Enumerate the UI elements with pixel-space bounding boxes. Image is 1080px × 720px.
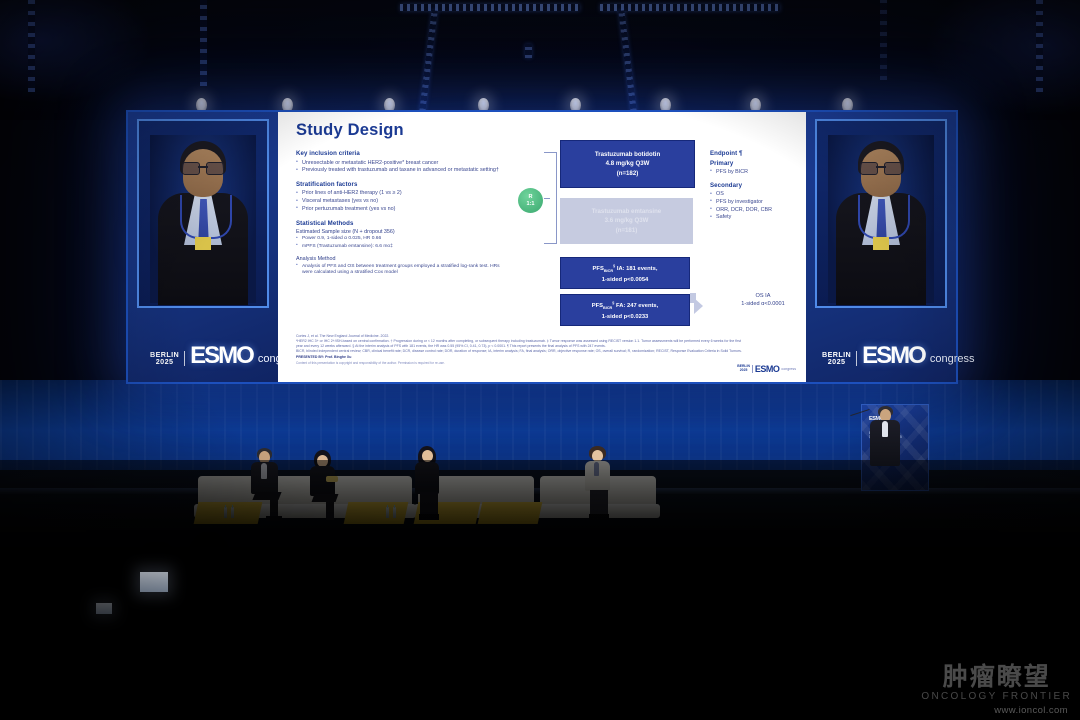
secondary-endpoint-list: OS PFS by investigator ORR, DCR, DOR, CB… [710, 191, 806, 221]
list-item: Visceral metastases (yes vs no) [296, 198, 500, 205]
arm-n: (n=181) [616, 226, 638, 235]
arm-drug-name: Trastuzumab emtansine [592, 207, 661, 216]
treatment-arm-comparator: Trastuzumab emtansine 3.6 mg/kg Q3W (n=1… [560, 198, 693, 244]
presentation-slide: Study Design Key inclusion criteria Unre… [278, 112, 806, 382]
inclusion-list: Unresectable or metastatic HER2-positive… [296, 160, 500, 174]
esmo-logo-slide-corner: BERLIN 2025 ESMO congress [737, 364, 796, 374]
list-item: Safety [710, 214, 806, 221]
watermark-english: ONCOLOGY FRONTIER [921, 691, 1072, 702]
pfs-ia-line1: PFSBICR§ IA: 181 events, [593, 262, 658, 275]
audience-silhouette [452, 600, 548, 720]
endpoint-heading: Endpoint ¶ [710, 150, 806, 157]
presenter-at-podium [866, 406, 906, 492]
arm-n: (n=182) [617, 169, 639, 178]
esmo-wordmark: ESMO [190, 345, 253, 366]
os-interim-analysis-note: OS IA 1-sided α<0.0001 [708, 292, 806, 308]
pfs-interim-analysis-box: PFSBICR§ IA: 181 events, 1-sided p<0.005… [560, 257, 690, 289]
eyeglasses-icon [182, 162, 224, 173]
side-truss [28, 0, 35, 92]
statistics-list-2: Analysis of PFS and OS between treatment… [296, 264, 500, 276]
statistics-list-1: Power 0.9, 1-sided α 0.025, HR 0.66 mPFS… [296, 236, 500, 249]
truss-fixture [525, 44, 532, 58]
list-item: Previously treated with trastuzumab and … [296, 167, 500, 174]
pfs-final-analysis-box: PFSBICR§ FA: 247 events, 1-sided p<0.023… [560, 294, 690, 326]
watermark-chinese: 肿瘤瞭望 [921, 663, 1072, 690]
os-ia-line1: OS IA [708, 292, 806, 300]
footnote: Cortes J, et al. The New England Journal… [296, 334, 744, 338]
lanyard [858, 195, 910, 239]
watermark-logo: 肿瘤瞭望 ONCOLOGY FRONTIER [921, 663, 1072, 702]
speaker-video-feed-right: BERLIN 2025 ESMO congress [806, 112, 956, 382]
side-truss [1036, 0, 1043, 92]
video-frame [137, 119, 269, 308]
audience-laptop-screen [140, 572, 168, 592]
list-item: Unresectable or metastatic HER2-positive… [296, 160, 500, 167]
arm-dose: 3.6 mg/kg Q3W [605, 216, 649, 225]
primary-heading: Primary [710, 160, 806, 167]
list-item: Power 0.9, 1-sided α 0.025, HR 0.66 [296, 236, 500, 242]
badge [195, 237, 211, 250]
conference-photo: BERLIN 2025 ESMO congress Study Design K… [0, 0, 1080, 720]
list-item: Prior pertuzumab treatment (yes vs no) [296, 206, 500, 213]
analysis-method-line: Analysis Method [296, 256, 500, 262]
primary-endpoint-list: PFS by BICR [710, 169, 806, 176]
esmo-year: 2025 [156, 357, 174, 366]
statistics-heading: Statistical Methods [296, 220, 500, 227]
list-item: Analysis of PFS and OS between treatment… [296, 264, 500, 276]
list-item: PFS by BICR [710, 169, 806, 176]
copyright-note: Content of this presentation is copyrigh… [296, 361, 744, 365]
esmo-logo-right: BERLIN 2025 ESMO congress [822, 345, 974, 366]
randomization-node: R 1:1 [518, 188, 543, 213]
eyeglasses-icon [860, 162, 902, 173]
video-frame [815, 119, 947, 308]
speaker-portrait [150, 135, 256, 303]
treatment-arm-experimental: Trastuzumab botidotin 4.8 mg/kg Q3W (n=1… [560, 140, 695, 188]
list-item: Prior lines of anti-HER2 therapy (1 vs ≥… [296, 190, 500, 197]
inclusion-heading: Key inclusion criteria [296, 150, 500, 157]
arm-drug-name: Trastuzumab botidotin [595, 150, 660, 159]
slide-endpoint-column: Endpoint ¶ Primary PFS by BICR Secondary… [710, 150, 806, 228]
list-item: mPFS (Trastuzumab emtansine): 6.6 mo‡ [296, 244, 500, 250]
footnote: BICR, blinded independent central review… [296, 349, 744, 353]
randomization-ratio: 1:1 [526, 201, 534, 207]
side-truss [880, 0, 887, 80]
lanyard [180, 195, 232, 239]
speaker-portrait [828, 135, 934, 303]
audience-laptop-screen [96, 603, 112, 614]
audience-silhouette [176, 532, 242, 720]
pfs-fa-line2: 1-sided p<0.0233 [602, 313, 649, 321]
slide-title: Study Design [296, 121, 404, 140]
footnote: *HER2 IHC 3+ or IHC 2+/ISH-based on cent… [296, 339, 744, 348]
audience-silhouette [560, 608, 670, 720]
side-truss [200, 0, 207, 86]
pfs-fa-line1: PFSBICR§ FA: 247 events, [592, 299, 659, 312]
slide-footnotes: Cortes J, et al. The New England Journal… [296, 334, 744, 366]
secondary-heading: Secondary [710, 182, 806, 189]
truss-beam [400, 4, 580, 11]
pfs-ia-line2: 1-sided p<0.0054 [602, 276, 649, 284]
os-ia-line2: 1-sided α<0.0001 [708, 300, 806, 308]
projection-screen: BERLIN 2025 ESMO congress Study Design K… [126, 110, 958, 384]
audience-silhouette [238, 560, 308, 720]
speaker-video-feed-left: BERLIN 2025 ESMO congress [128, 112, 278, 382]
list-item: ORR, DCR, DOR, CBR [710, 207, 806, 214]
audience-foreground [0, 460, 1080, 720]
presenter-credit: PRESENTED BY: Prof. Binghe Xu [296, 355, 744, 359]
audience-silhouette [372, 590, 456, 720]
randomization-brace [544, 152, 557, 244]
stratification-heading: Stratification factors [296, 181, 500, 188]
stratification-list: Prior lines of anti-HER2 therapy (1 vs ≥… [296, 190, 500, 212]
slide-left-column: Key inclusion criteria Unresectable or m… [296, 150, 500, 283]
arrow-right-icon [694, 298, 703, 314]
truss-beam [600, 4, 780, 11]
list-item: PFS by investigator [710, 199, 806, 206]
arm-dose: 4.8 mg/kg Q3W [606, 159, 650, 168]
list-item: OS [710, 191, 806, 198]
sample-size-line: Estimated Sample size (N + dropout 356) [296, 229, 500, 235]
audience-silhouette [300, 580, 376, 720]
watermark-url: www.ioncol.com [994, 705, 1068, 716]
badge [873, 237, 889, 250]
audience-silhouette [690, 616, 810, 720]
